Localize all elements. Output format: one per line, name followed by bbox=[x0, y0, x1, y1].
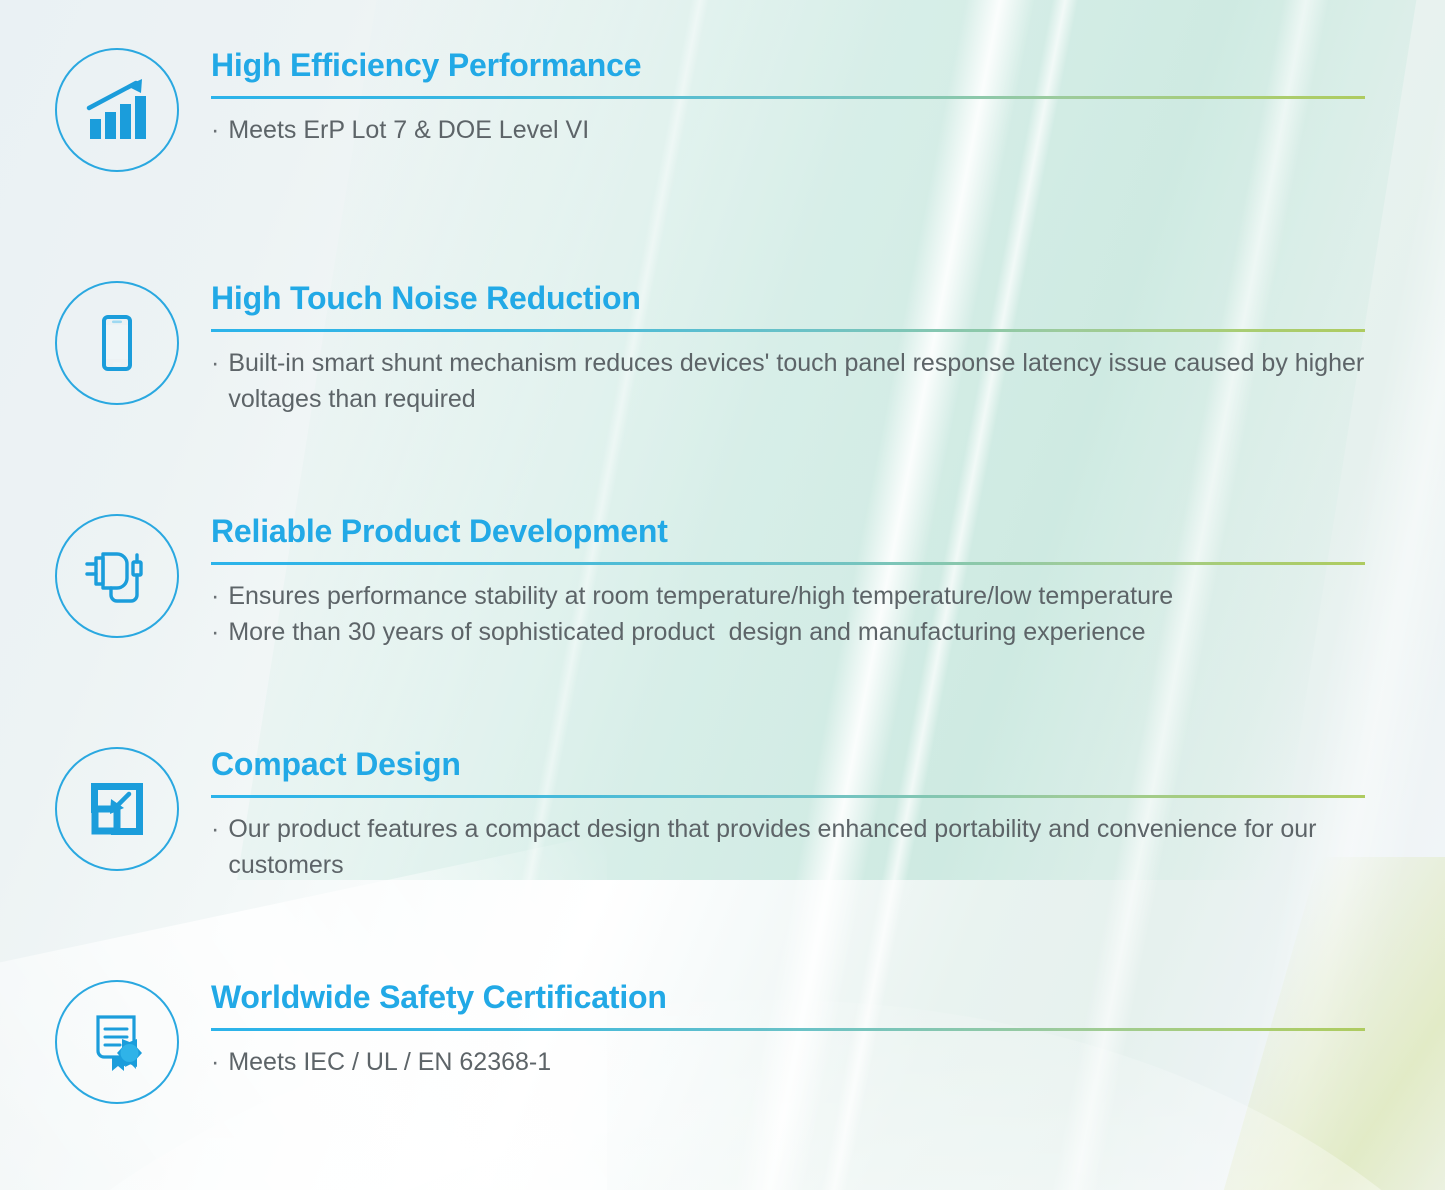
feature-divider bbox=[211, 1028, 1365, 1031]
bullet-marker: · bbox=[211, 614, 219, 651]
feature-bullets: · Ensures performance stability at room … bbox=[211, 578, 1365, 651]
feature-divider bbox=[211, 795, 1365, 798]
bullet-item: · Built-in smart shunt mechanism reduces… bbox=[211, 345, 1365, 418]
feature-bullets: · Our product features a compact design … bbox=[211, 811, 1365, 884]
feature-title: Reliable Product Development bbox=[211, 514, 1365, 549]
feature-title: High Touch Noise Reduction bbox=[211, 281, 1365, 316]
feature-bullets: · Meets IEC / UL / EN 62368-1 bbox=[211, 1044, 1365, 1081]
feature-body: Reliable Product Development · Ensures p… bbox=[211, 514, 1445, 651]
bullet-item: · Ensures performance stability at room … bbox=[211, 578, 1365, 615]
bullet-marker: · bbox=[211, 345, 219, 382]
power-adapter-icon bbox=[55, 514, 179, 638]
bullet-text: More than 30 years of sophisticated prod… bbox=[228, 614, 1145, 651]
bullet-marker: · bbox=[211, 112, 219, 149]
bullet-text: Meets ErP Lot 7 & DOE Level VI bbox=[228, 112, 589, 149]
bullet-text: Ensures performance stability at room te… bbox=[228, 578, 1173, 615]
feature-divider bbox=[211, 96, 1365, 99]
feature-divider bbox=[211, 329, 1365, 332]
feature-body: High Efficiency Performance · Meets ErP … bbox=[211, 48, 1445, 148]
feature-item-high-touch-noise-reduction: High Touch Noise Reduction · Built-in sm… bbox=[0, 281, 1445, 418]
certificate-award-icon bbox=[55, 980, 179, 1104]
feature-title: Compact Design bbox=[211, 747, 1365, 782]
bar-chart-growth-icon bbox=[55, 48, 179, 172]
smartphone-icon bbox=[55, 281, 179, 405]
bullet-item: · Meets IEC / UL / EN 62368-1 bbox=[211, 1044, 1365, 1081]
feature-list: High Efficiency Performance · Meets ErP … bbox=[0, 0, 1445, 1190]
bullet-text: Our product features a compact design th… bbox=[228, 811, 1365, 884]
feature-title: High Efficiency Performance bbox=[211, 48, 1365, 83]
feature-item-reliable-product-development: Reliable Product Development · Ensures p… bbox=[0, 514, 1445, 651]
feature-item-high-efficiency-performance: High Efficiency Performance · Meets ErP … bbox=[0, 48, 1445, 172]
bullet-text: Built-in smart shunt mechanism reduces d… bbox=[228, 345, 1365, 418]
feature-title: Worldwide Safety Certification bbox=[211, 980, 1365, 1015]
feature-bullets: · Meets ErP Lot 7 & DOE Level VI bbox=[211, 112, 1365, 149]
bullet-text: Meets IEC / UL / EN 62368-1 bbox=[228, 1044, 551, 1081]
feature-item-compact-design: Compact Design · Our product features a … bbox=[0, 747, 1445, 884]
bullet-marker: · bbox=[211, 811, 219, 848]
resize-shrink-icon bbox=[55, 747, 179, 871]
feature-divider bbox=[211, 562, 1365, 565]
bullet-marker: · bbox=[211, 578, 219, 615]
bullet-item: · More than 30 years of sophisticated pr… bbox=[211, 614, 1365, 651]
bullet-item: · Our product features a compact design … bbox=[211, 811, 1365, 884]
feature-body: Compact Design · Our product features a … bbox=[211, 747, 1445, 884]
feature-item-worldwide-safety-certification: Worldwide Safety Certification · Meets I… bbox=[0, 980, 1445, 1104]
bullet-item: · Meets ErP Lot 7 & DOE Level VI bbox=[211, 112, 1365, 149]
feature-bullets: · Built-in smart shunt mechanism reduces… bbox=[211, 345, 1365, 418]
feature-body: High Touch Noise Reduction · Built-in sm… bbox=[211, 281, 1445, 418]
feature-body: Worldwide Safety Certification · Meets I… bbox=[211, 980, 1445, 1080]
bullet-marker: · bbox=[211, 1044, 219, 1081]
